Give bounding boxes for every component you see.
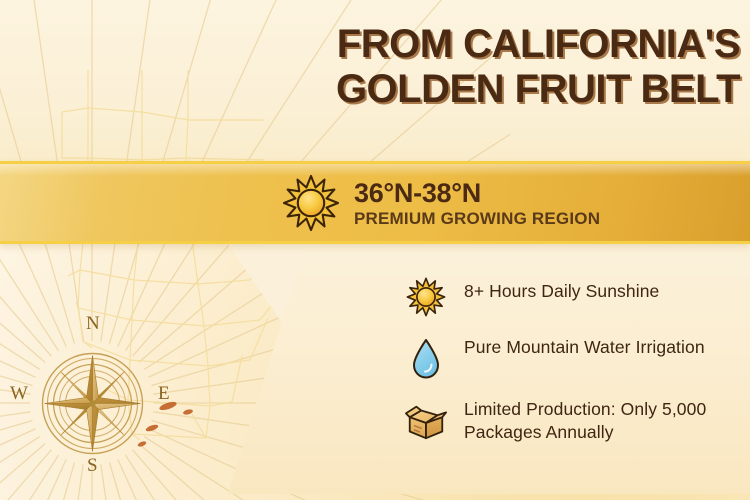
sun-icon — [282, 174, 340, 232]
compass-label-south: S — [87, 455, 98, 477]
band-bottom-edge — [0, 241, 750, 244]
list-item-label: Pure Mountain Water Irrigation — [464, 334, 705, 359]
compass-label-west: W — [10, 383, 28, 405]
feature-list: 8+ Hours Daily Sunshine Pure Mountai — [404, 272, 734, 458]
list-item-label: 8+ Hours Daily Sunshine — [464, 272, 659, 303]
latitude-band-content: 36°N-38°N PREMIUM GROWING REGION — [282, 165, 742, 241]
package-box-icon — [404, 396, 448, 446]
list-item: 8+ Hours Daily Sunshine — [404, 272, 734, 322]
infographic-canvas: FROM CALIFORNIA'S GOLDEN FRUIT BELT 36°N… — [0, 0, 750, 500]
compass-label-north: N — [86, 313, 100, 335]
compass-label-east: E — [158, 383, 170, 405]
latitude-band-text: 36°N-38°N PREMIUM GROWING REGION — [354, 178, 600, 229]
latitude-value: 36°N-38°N — [354, 178, 600, 208]
list-item: Pure Mountain Water Irrigation — [404, 334, 734, 384]
latitude-subtitle: PREMIUM GROWING REGION — [354, 208, 600, 229]
sun-icon — [404, 272, 448, 322]
headline-line-1: FROM CALIFORNIA'S — [228, 22, 740, 67]
compass-rose — [40, 351, 145, 456]
list-item-label: Limited Production: Only 5,000 Packages … — [464, 396, 734, 444]
water-drop-icon — [404, 334, 448, 384]
list-item: Limited Production: Only 5,000 Packages … — [404, 396, 734, 446]
headline-line-2: GOLDEN FRUIT BELT — [228, 67, 740, 112]
page-title: FROM CALIFORNIA'S GOLDEN FRUIT BELT — [228, 22, 740, 112]
